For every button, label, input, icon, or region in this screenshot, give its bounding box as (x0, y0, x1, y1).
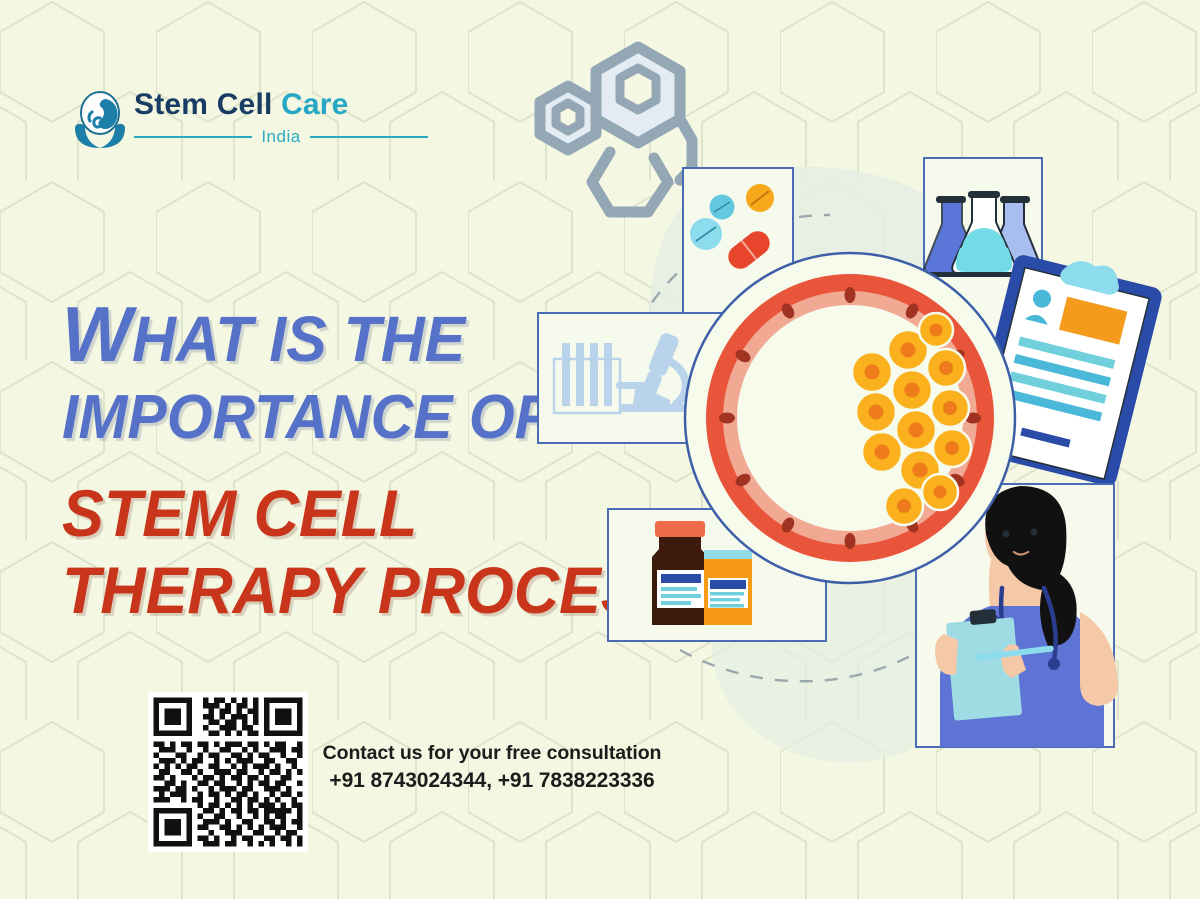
hexagon-molecule-icon (540, 47, 692, 212)
artwork-cluster (520, 0, 1200, 899)
blastocyst-illustration (685, 253, 1015, 583)
headline-line-1-rest: HAT IS THE (132, 303, 465, 375)
poster-root: Stem Cell Care India WHAT IS THE IMPORTA… (0, 0, 1200, 899)
logo-rule-left (134, 136, 252, 138)
logo-subtitle: India (261, 127, 300, 147)
logo-word-secondary: Care (281, 88, 349, 121)
brand-logo[interactable]: Stem Cell Care India (72, 88, 372, 160)
artwork-svg (520, 0, 1200, 899)
logo-subtitle-row: India (134, 124, 428, 150)
blastocyst-cell (706, 274, 994, 562)
embryo-in-hands-logo-icon (72, 90, 128, 148)
qr-code[interactable] (148, 692, 308, 852)
logo-word-primary: Stem Cell (134, 88, 273, 121)
logo-rule-right (310, 136, 428, 138)
logo-wordmark: Stem Cell Care (134, 88, 349, 122)
qr-code-image (148, 692, 308, 852)
headline-line-1-cap: W (62, 290, 132, 378)
